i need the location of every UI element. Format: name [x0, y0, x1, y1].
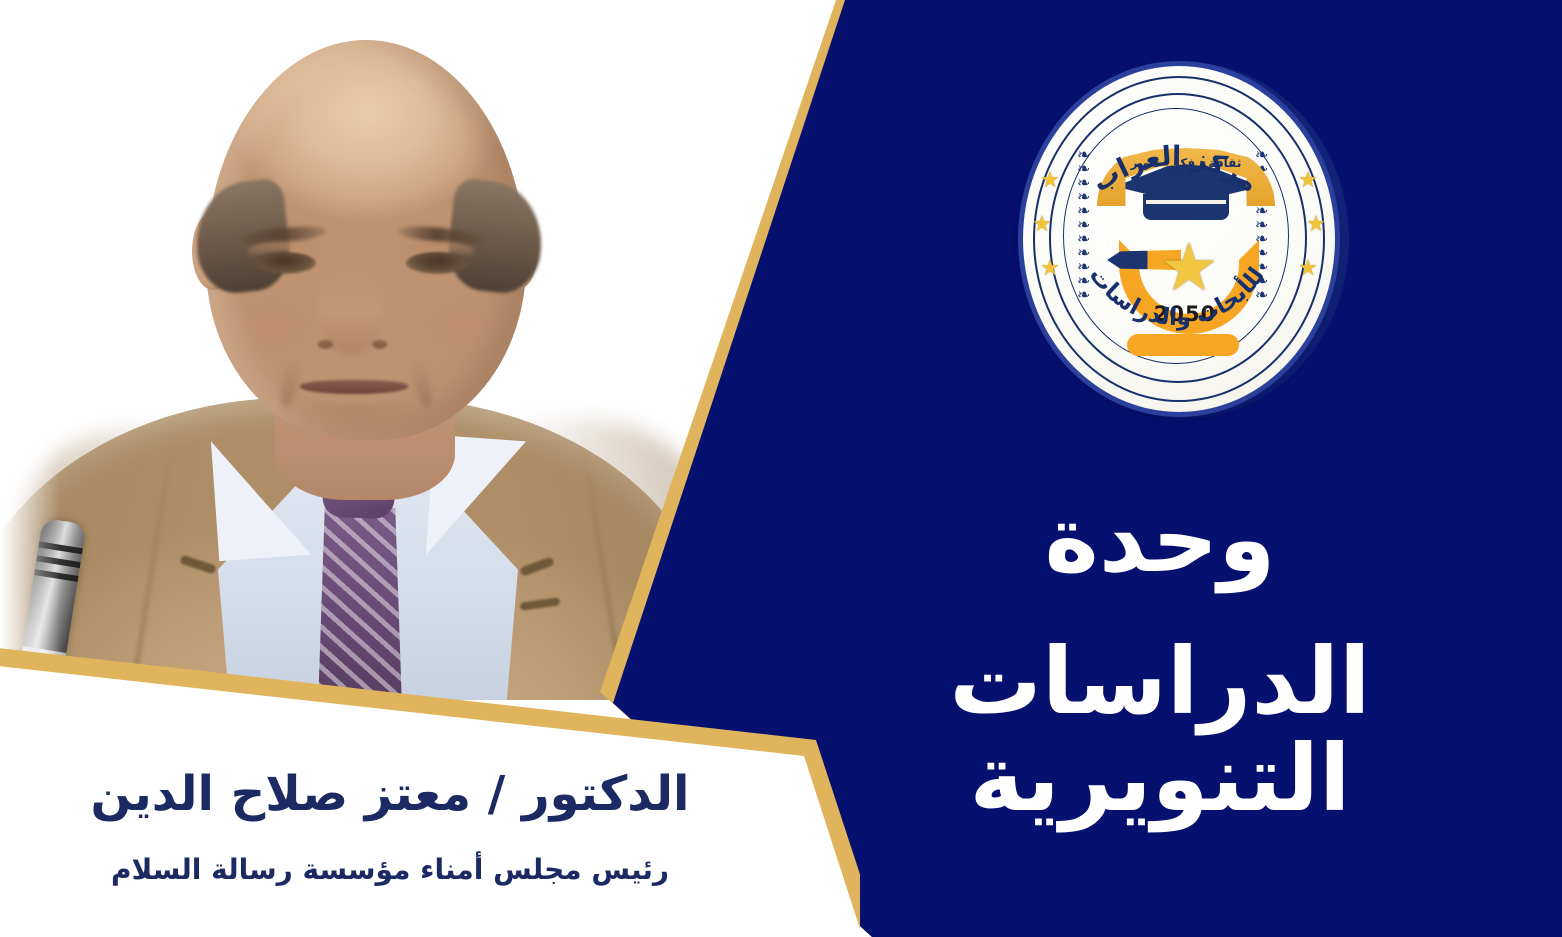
necktie-body [318, 508, 402, 700]
person-name: الدكتور / معتز صلاح الدين [0, 768, 780, 821]
poster-canvas: ★ ★ ★ ★ ★ ★ ❧❧❧ ❧❧❧ ❧❧❧ ❧❧ ❧❧❧ ❧❧❧ ❧❧❧ ❧… [0, 0, 1562, 937]
person-role: رئيس مجلس أمناء مؤسسة رسالة السلام [0, 855, 780, 886]
nostril-right [372, 340, 387, 349]
cheek-right [428, 300, 502, 352]
svg-text:للأبحاث والدراسات: للأبحاث والدراسات [1084, 262, 1270, 331]
organization-logo: ★ ★ ★ ★ ★ ★ ❧❧❧ ❧❧❧ ❧❧❧ ❧❧ ❧❧❧ ❧❧❧ ❧❧❧ ❧… [1015, 52, 1355, 426]
microphone-ring [34, 569, 78, 582]
chin-shadow [276, 404, 436, 444]
svg-text:مركز العراب: مركز العراب [1086, 141, 1264, 199]
cheek-left [234, 300, 308, 352]
eye-left [252, 252, 316, 274]
microphone-ring [38, 541, 82, 554]
nostril-left [318, 340, 333, 349]
logo-arc-text: مركز العراب للأبحاث والدراسات [1015, 52, 1355, 426]
microphone-ring [36, 555, 80, 568]
mouth [300, 380, 408, 394]
unit-title-line-1: وحدة [880, 492, 1440, 589]
eye-right [406, 252, 470, 274]
unit-title-line-2: الدراسات التنويرية [800, 634, 1520, 827]
